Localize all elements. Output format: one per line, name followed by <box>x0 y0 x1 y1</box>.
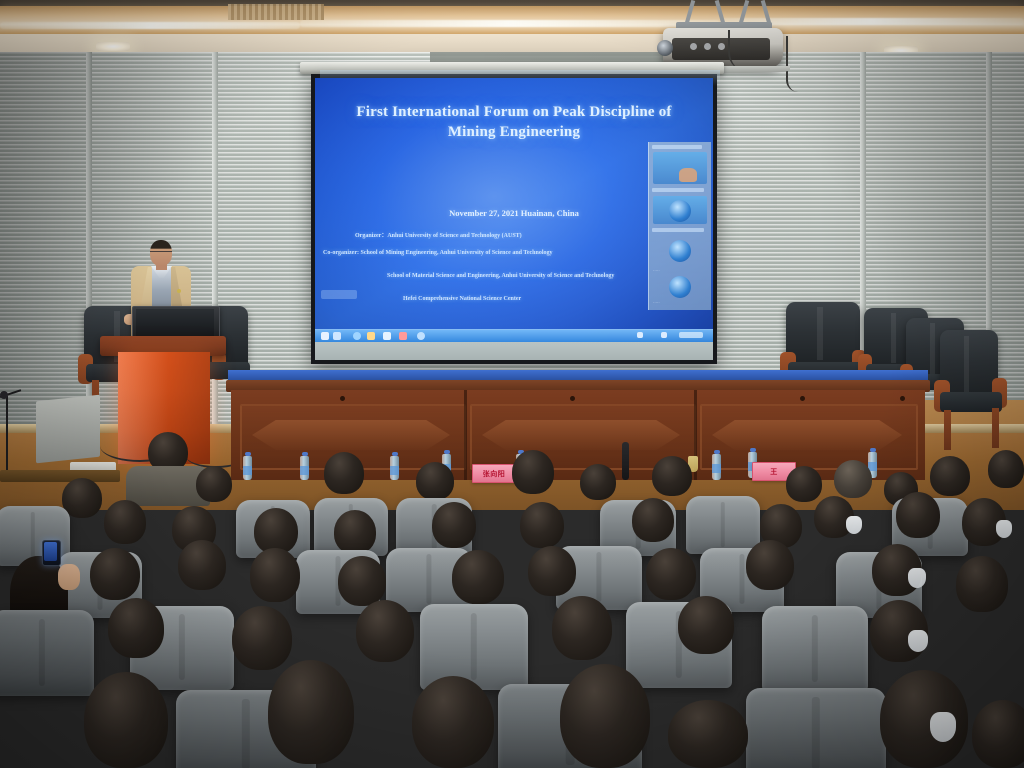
projector-cable <box>786 36 798 92</box>
audience-head <box>580 464 616 500</box>
panel-avatar <box>669 276 691 298</box>
projector-lens <box>657 40 673 56</box>
panel-caption-bar <box>652 188 704 192</box>
audience-head <box>786 466 822 502</box>
panel-avatar <box>669 200 691 222</box>
bottle-cap <box>245 452 251 456</box>
projector-knob <box>704 43 711 50</box>
audience-head <box>956 556 1008 612</box>
audience-head <box>416 462 454 500</box>
ceiling-light-strip <box>300 20 720 27</box>
audience-head <box>108 598 164 658</box>
microphone-icon <box>0 391 8 399</box>
phone-screen <box>44 542 57 561</box>
table-molding <box>252 420 450 450</box>
face-mask <box>846 516 862 534</box>
ceiling-vent-grille <box>228 4 324 20</box>
glasses-icon <box>150 251 172 257</box>
table-microphone <box>622 442 629 480</box>
bottle-label <box>243 466 252 475</box>
name-placard: 张向阳 <box>472 464 516 483</box>
panel-tile-person <box>679 168 697 182</box>
projection-screen: First International Forum on Peak Discip… <box>315 78 713 360</box>
audience-head <box>338 556 386 606</box>
slide-co-organizer-2: School of Material Science and Engineeri… <box>387 273 614 279</box>
audience-head <box>834 460 872 498</box>
tray-icon[interactable] <box>637 332 643 338</box>
audience-head <box>646 548 696 600</box>
audience-head <box>104 500 146 544</box>
slide-corner-tag <box>321 290 357 299</box>
tray-icon[interactable] <box>661 332 667 338</box>
face-mask <box>908 630 928 652</box>
table-drawer-knob <box>340 396 345 401</box>
audience-head <box>196 466 232 502</box>
panel-header-bar <box>652 145 702 149</box>
audience-head <box>652 456 692 496</box>
audience-head <box>972 700 1024 768</box>
audience-head <box>896 492 940 538</box>
audience-head <box>512 450 554 494</box>
audience-head <box>746 540 794 590</box>
audience-head <box>432 502 476 548</box>
audience-head <box>356 600 414 662</box>
face-mask <box>908 568 926 588</box>
bottle-cap <box>392 452 398 456</box>
face-mask <box>930 712 956 742</box>
monitor-screen <box>136 309 214 336</box>
app-icon[interactable] <box>417 332 425 340</box>
face-mask <box>996 520 1012 538</box>
audience-head <box>178 540 226 590</box>
audience-head <box>632 498 674 542</box>
audience-head <box>552 596 612 660</box>
microphone-stand <box>6 396 8 478</box>
projector-knob <box>718 43 725 50</box>
audience-head <box>250 548 300 602</box>
audience-head <box>678 596 734 654</box>
audience-head <box>84 672 168 768</box>
browser-icon[interactable] <box>353 332 361 340</box>
audience-head <box>324 452 364 494</box>
bottle-cap <box>444 450 450 454</box>
slide-co-organizer-3: Hefei Comprehensive National Science Cen… <box>403 296 521 302</box>
table-drawer-knob <box>570 396 575 401</box>
audience-seat <box>746 688 886 768</box>
table-drawer-knob <box>900 396 905 401</box>
app-icon[interactable] <box>399 332 407 340</box>
audience-seat <box>762 606 868 692</box>
audience-head <box>334 510 376 554</box>
audience-head <box>528 546 576 596</box>
table-molding <box>482 420 680 450</box>
audience-head <box>988 450 1024 488</box>
audience-hand <box>58 564 80 590</box>
ceiling-light-strip <box>0 22 300 29</box>
table-drawer-knob <box>800 396 805 401</box>
speaker-lapel-badge <box>177 289 181 293</box>
bottle-cap <box>870 448 876 452</box>
audience-head <box>520 502 564 548</box>
folder-icon[interactable] <box>367 332 375 340</box>
slide-co-organizer-1: Co-organizer: School of Mining Engineeri… <box>323 250 553 256</box>
video-conference-panel: ····· ····· <box>648 142 711 310</box>
bottle-cap <box>302 452 308 456</box>
bottle-label <box>712 464 721 473</box>
table-molding <box>712 420 902 450</box>
projector-knob <box>690 43 697 50</box>
slide-title-line-1: First International Forum on Peak Discip… <box>315 104 713 121</box>
audience-head <box>668 700 748 768</box>
audience-head <box>232 606 292 670</box>
bottle-cap <box>750 448 756 452</box>
app-icon[interactable] <box>383 332 391 340</box>
auditorium-photo: First International Forum on Peak Discip… <box>0 0 1024 768</box>
start-icon[interactable] <box>321 332 329 340</box>
bottle-cap <box>714 450 720 454</box>
windows-taskbar[interactable] <box>315 329 713 342</box>
audience-seat <box>0 610 94 696</box>
search-icon[interactable] <box>333 332 341 340</box>
floor-cable-ramp <box>0 470 120 482</box>
slide-title-line-2: Mining Engineering <box>315 124 713 141</box>
screen-bottom-border <box>315 342 713 360</box>
audience-head <box>560 664 650 768</box>
table-seam <box>464 390 467 480</box>
bottle-label <box>390 466 399 475</box>
audience-head <box>268 660 354 764</box>
audience-seat <box>420 604 528 690</box>
recessed-downlight <box>96 42 130 51</box>
audience-seat <box>686 496 760 554</box>
panel-avatar <box>669 240 691 262</box>
floor-equipment-case <box>36 395 100 464</box>
slide-organizer: Organizer：Anhui University of Science an… <box>355 230 522 239</box>
panel-caption-bar <box>652 228 704 232</box>
panel-label: ····· <box>653 268 660 273</box>
panel-label: ····· <box>653 300 660 305</box>
bottle-label <box>300 466 309 475</box>
clock[interactable] <box>679 332 703 338</box>
audience-head <box>930 456 970 496</box>
audience-head <box>412 676 494 768</box>
audience-head <box>90 548 140 600</box>
audience-head <box>452 550 504 604</box>
